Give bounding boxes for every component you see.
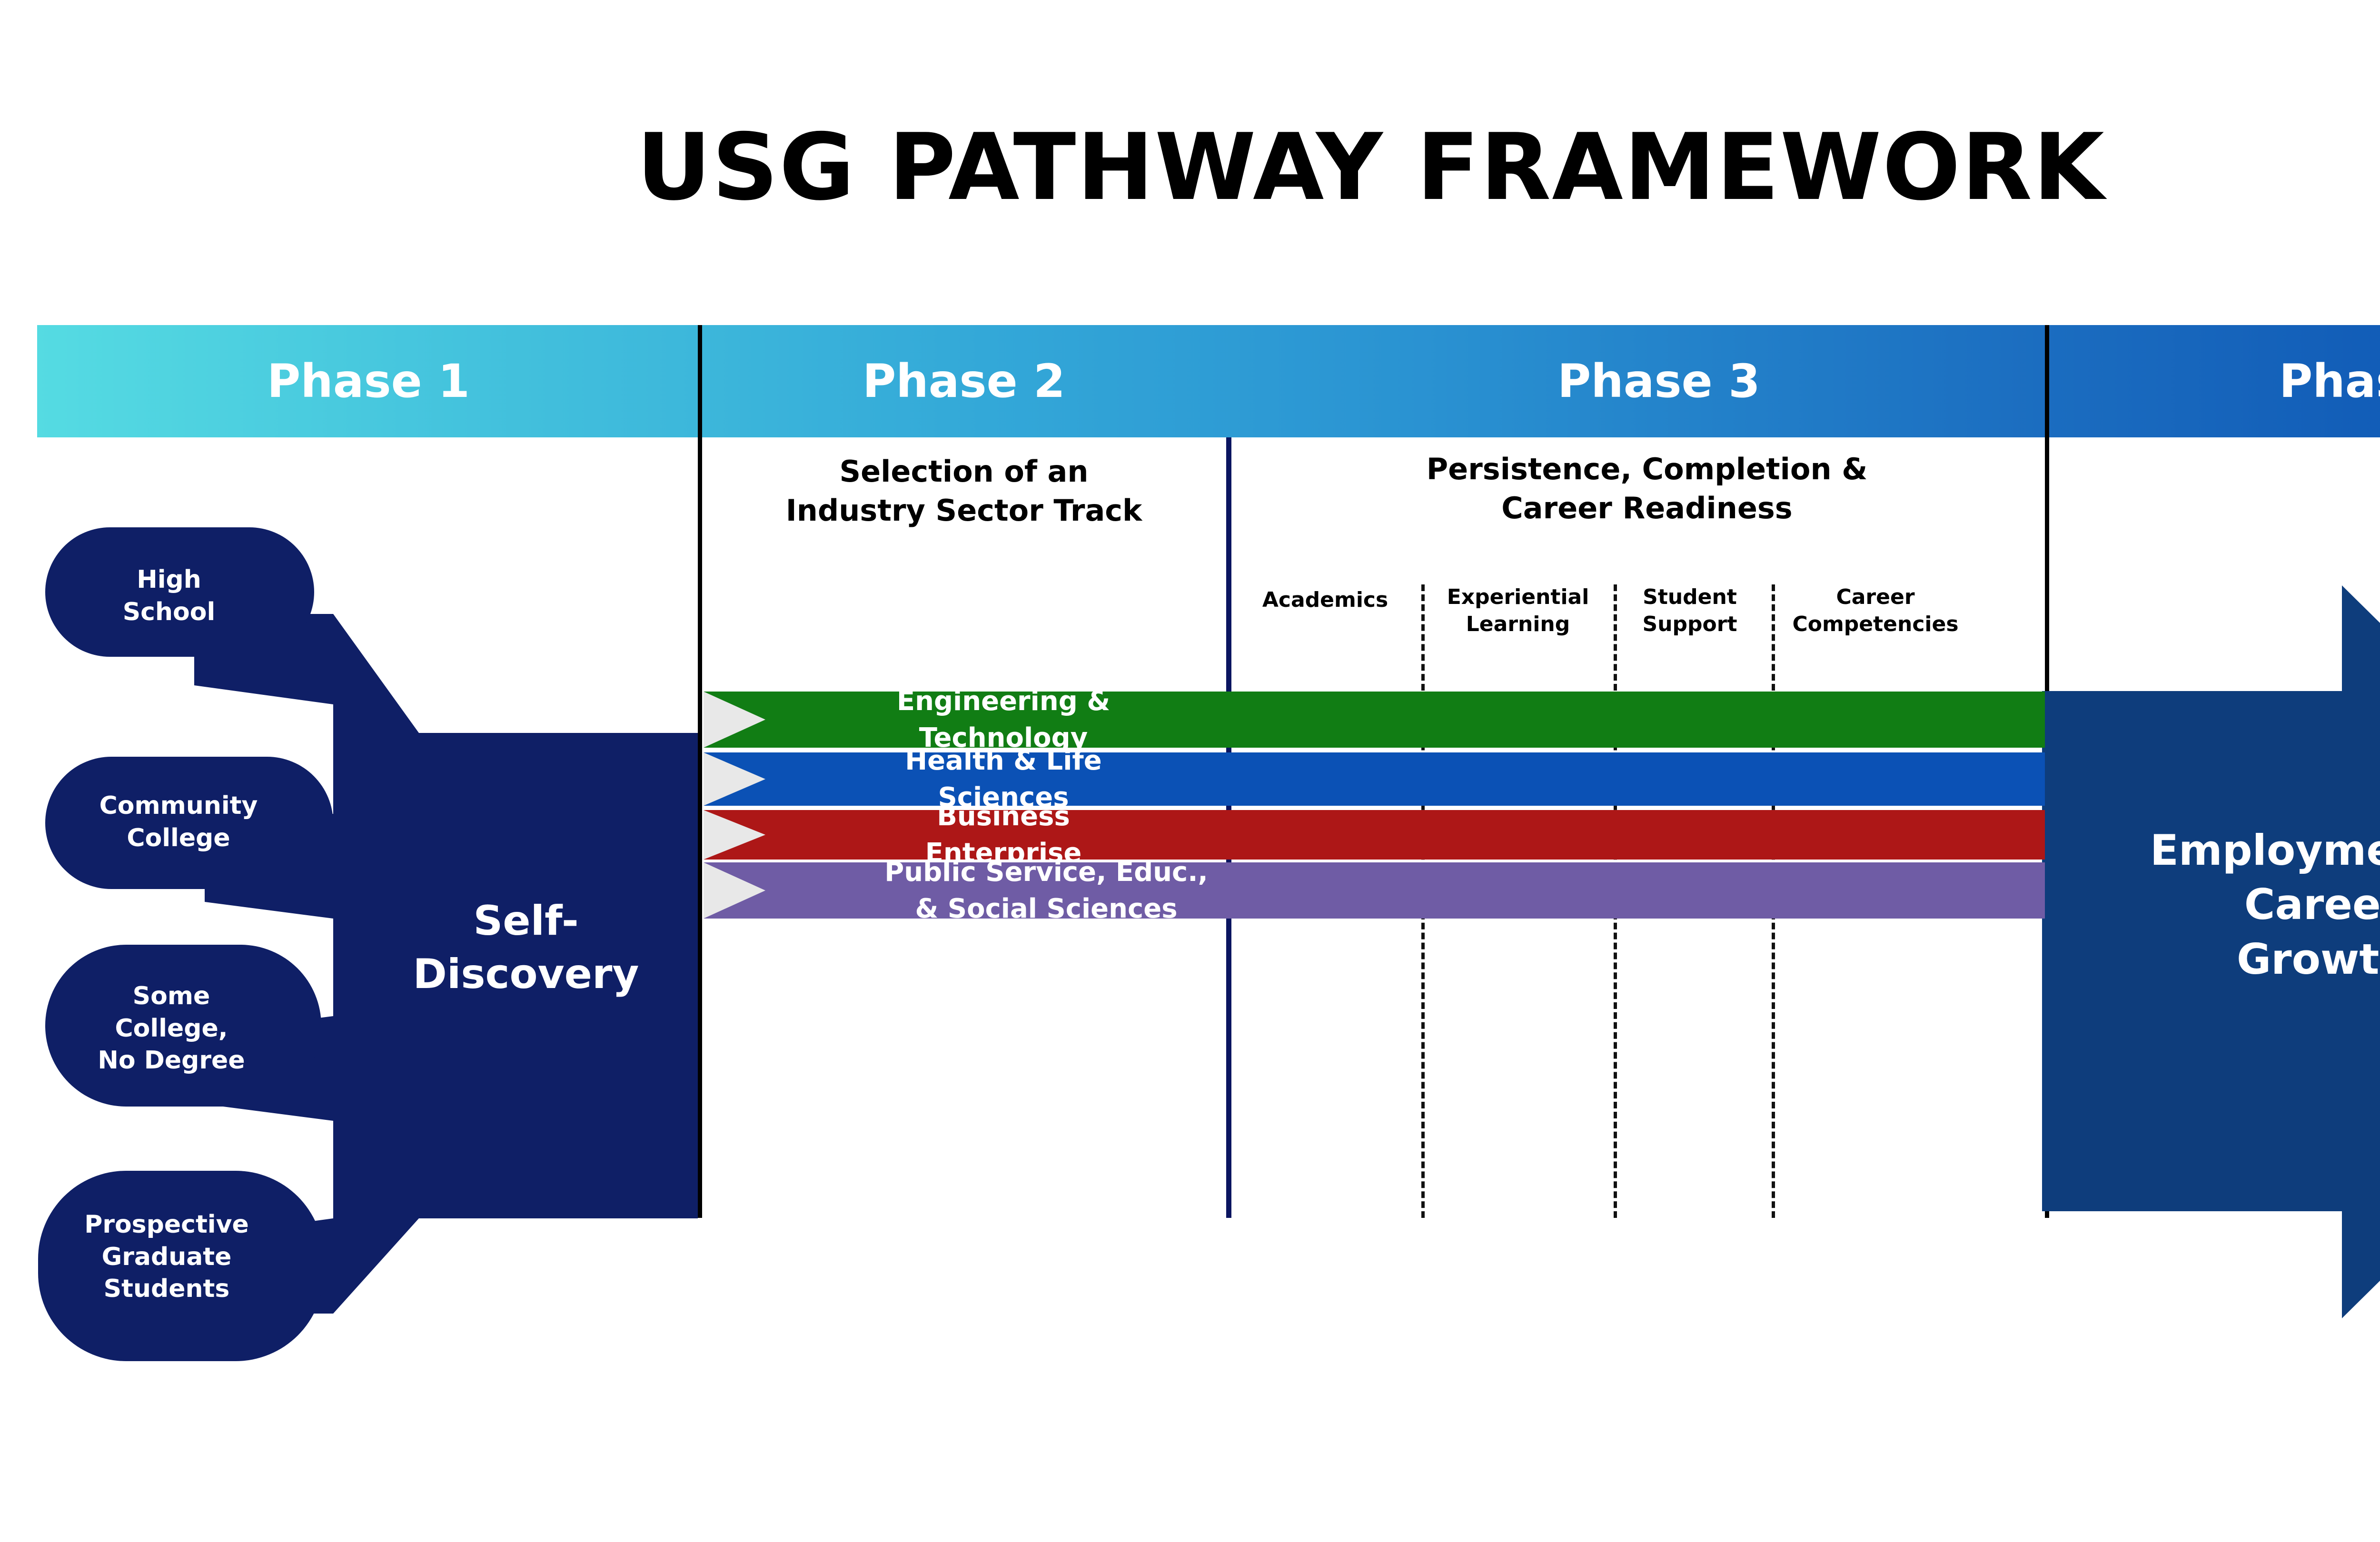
track-row-health-life-sciences[interactable]: Health & Life Sciences <box>704 752 2045 806</box>
entry-bubble-community-college[interactable] <box>45 757 333 889</box>
track-label: Business Enterprise <box>765 810 1241 860</box>
outcome-label: Employment & Career Growth <box>2066 823 2380 987</box>
outcome-line3: Growth <box>2066 932 2380 987</box>
chevron-right-icon <box>704 810 765 860</box>
self-discovery-label: Self- Discovery <box>362 895 690 1001</box>
entry-bubble-prospective-graduate-students[interactable] <box>38 1171 324 1361</box>
chevron-right-icon <box>704 692 765 748</box>
chevron-right-icon <box>704 862 765 919</box>
chevron-right-icon <box>704 752 765 806</box>
track-label: Engineering & Technology <box>765 692 1241 748</box>
outcome-line2: Career <box>2066 878 2380 932</box>
track-label-line1: Business <box>937 798 1070 835</box>
self-discovery-line2: Discovery <box>362 948 690 1001</box>
entry-bubble-high-school[interactable] <box>45 527 314 657</box>
track-label: Public Service, Educ., & Social Sciences <box>765 862 1327 919</box>
track-label-line1: Engineering & <box>897 683 1110 720</box>
track-row-public-service-educ-social-sciences[interactable]: Public Service, Educ., & Social Sciences <box>704 862 2045 919</box>
track-row-engineering-technology[interactable]: Engineering & Technology <box>704 692 2045 748</box>
track-label-line1: Public Service, Educ., <box>884 854 1208 890</box>
outcome-line1: Employment & <box>2066 823 2380 878</box>
track-row-business-enterprise[interactable]: Business Enterprise <box>704 810 2045 860</box>
pathway-framework-diagram: USG PATHWAY FRAMEWORK Phase 1 Phase 2 Ph… <box>0 0 2380 1542</box>
track-label-line2: & Social Sciences <box>915 890 1177 927</box>
entry-bubble-some-college-no-degree[interactable] <box>45 945 321 1107</box>
self-discovery-line1: Self- <box>362 895 690 948</box>
track-label-line1: Health & Life <box>905 742 1102 779</box>
